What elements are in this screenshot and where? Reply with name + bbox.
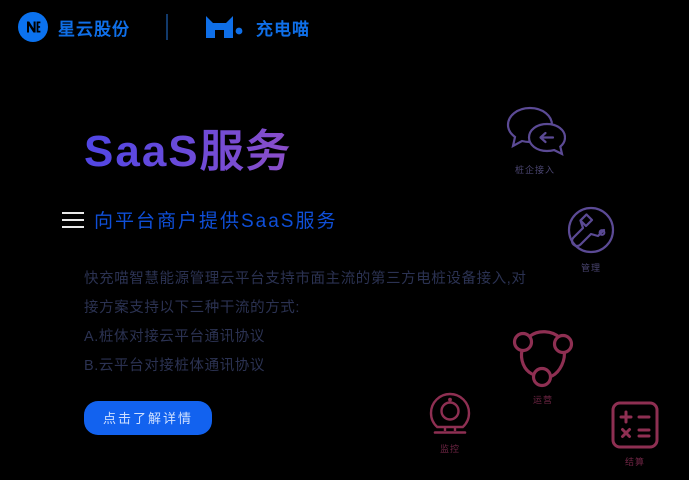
feature-label: 管理 [581,261,601,274]
primary-brand-name: 星云股份 [58,15,130,40]
feature-label: 运营 [533,393,553,406]
hero-subtitle: 向平台商户提供SaaS服务 [94,206,337,233]
share-nodes-icon [510,322,576,388]
chat-bubbles-icon [504,104,566,158]
hamburger-menu-icon[interactable] [62,212,84,228]
feature-settlement[interactable]: 结算 [590,400,680,468]
wrench-circle-icon [565,204,617,256]
body-line: 快充喵智慧能源管理云平台支持市面主流的第三方电桩设备接入,对 [84,265,584,294]
feature-pile-access[interactable]: 桩企接入 [490,104,580,176]
body-line: 接方案支持以下三种干流的方式: [84,294,584,323]
feature-label: 监控 [440,442,460,455]
feature-label: 结算 [625,455,645,468]
feature-label: 桩企接入 [515,163,555,176]
header-separator [166,14,168,40]
secondary-brand[interactable]: 充电喵 [204,14,310,40]
calculator-icon [610,400,660,450]
menu-line [62,212,84,214]
charging-cat-logo-icon [204,14,248,40]
feature-operation[interactable]: 运营 [498,322,588,406]
learn-more-button[interactable]: 点击了解详情 [84,401,212,435]
hero-subtitle-row: 向平台商户提供SaaS服务 [62,206,604,233]
ne-monogram-logo-icon [18,12,48,42]
feature-management[interactable]: 管理 [546,204,636,274]
primary-brand[interactable]: 星云股份 [18,12,130,42]
page-header: 星云股份 充电喵 [0,0,689,54]
menu-line [62,219,84,221]
secondary-brand-name: 充电喵 [256,15,310,40]
menu-line [62,226,84,228]
feature-monitoring[interactable]: 监控 [405,391,495,455]
camera-monitor-icon [427,391,473,437]
